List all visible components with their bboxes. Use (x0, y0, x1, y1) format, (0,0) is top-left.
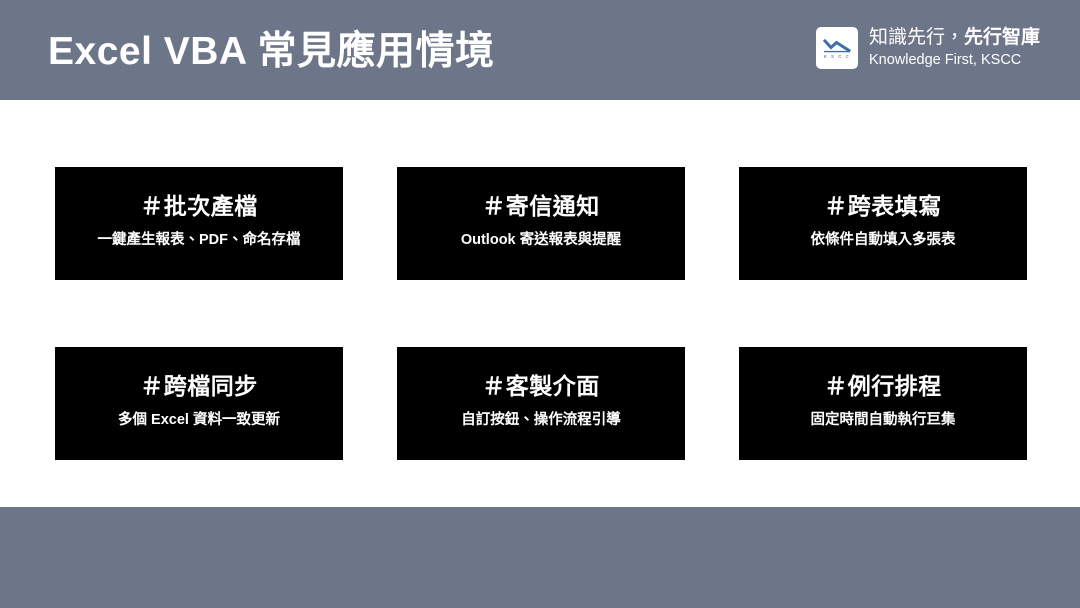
scenario-card[interactable]: ＃跨表填寫 依條件自動填入多張表 (739, 167, 1027, 280)
scenario-card-description: 依條件自動填入多張表 (811, 231, 956, 250)
scenario-card-description: 固定時間自動執行巨集 (811, 411, 956, 430)
scenario-card[interactable]: ＃客製介面 自訂按鈕、操作流程引導 (397, 347, 685, 460)
brand-name-cn: 知識先行，先行智庫 (869, 27, 1040, 49)
brand-name-cn-regular: 知識先行， (869, 27, 964, 48)
scenario-card[interactable]: ＃批次產檔 一鍵產生報表、PDF、命名存檔 (55, 167, 343, 280)
scenario-card-title: ＃客製介面 (482, 373, 600, 401)
scenario-card-description: 一鍵產生報表、PDF、命名存檔 (98, 231, 301, 250)
scenario-card-description: 多個 Excel 資料一致更新 (118, 411, 280, 430)
brand-text: 知識先行，先行智庫 Knowledge First, KSCC (869, 27, 1040, 69)
scenario-card-title: ＃寄信通知 (482, 193, 600, 221)
brand-name-en: Knowledge First, KSCC (869, 52, 1040, 69)
scenario-card-title: ＃跨檔同步 (140, 373, 258, 401)
scenario-card-title: ＃例行排程 (824, 373, 942, 401)
scenario-card-title: ＃跨表填寫 (824, 193, 942, 221)
header-band: Excel VBA 常見應用情境 K S C C 知識先行，先行智庫 Knowl… (0, 0, 1080, 100)
scenario-card-grid: ＃批次產檔 一鍵產生報表、PDF、命名存檔 ＃寄信通知 Outlook 寄送報表… (55, 167, 1025, 460)
brand-lockup: K S C C 知識先行，先行智庫 Knowledge First, KSCC (816, 27, 1040, 69)
scenario-card[interactable]: ＃跨檔同步 多個 Excel 資料一致更新 (55, 347, 343, 460)
scenario-card[interactable]: ＃例行排程 固定時間自動執行巨集 (739, 347, 1027, 460)
page-title: Excel VBA 常見應用情境 (48, 28, 494, 77)
brand-name-cn-bold: 先行智庫 (964, 27, 1040, 48)
scenario-card-description: Outlook 寄送報表與提醒 (461, 231, 621, 250)
scenario-card-description: 自訂按鈕、操作流程引導 (461, 411, 621, 430)
scenario-card-title: ＃批次產檔 (140, 193, 258, 221)
scenario-card[interactable]: ＃寄信通知 Outlook 寄送報表與提醒 (397, 167, 685, 280)
footer-band (0, 507, 1080, 608)
kscc-logo-icon: K S C C (816, 27, 858, 69)
logo-mark-caption: K S C C (824, 54, 851, 59)
